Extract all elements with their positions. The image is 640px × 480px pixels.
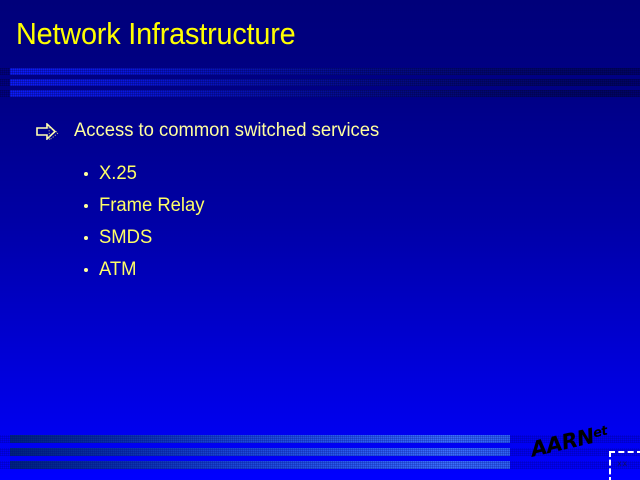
aarnet-logo-suffix: et: [592, 424, 609, 442]
bullet-level2-label: ATM: [99, 259, 137, 281]
page-number-text: xx: [617, 459, 628, 468]
top-decorative-bars: [0, 68, 640, 97]
bullet-level2: Frame Relay: [0, 190, 640, 222]
bullet-dot-icon: [84, 268, 88, 272]
sub-bullet-list: X.25 Frame Relay SMDS ATM: [0, 158, 640, 286]
bullet-dot-icon: [84, 236, 88, 240]
bullet-level2-label: X.25: [99, 163, 137, 185]
slide-title: Network Infrastructure: [16, 17, 295, 51]
decorative-bar: [0, 79, 640, 86]
bullet-level1-label: Access to common switched services: [74, 119, 379, 143]
aarnet-logo-main: AARN: [528, 424, 596, 462]
presentation-slide: Network Infrastructure Access to common …: [0, 0, 640, 480]
decorative-bar-dither: [0, 68, 640, 75]
aarnet-logo-text: AARNet: [528, 421, 609, 461]
bullet-dot-icon: [84, 204, 88, 208]
slide-body: Access to common switched services X.25 …: [0, 119, 640, 286]
bullet-level2: ATM: [0, 254, 640, 286]
bullet-level2-label: SMDS: [99, 227, 152, 249]
bullet-level1: Access to common switched services: [0, 119, 640, 145]
decorative-bar-dither: [0, 79, 640, 86]
decorative-bar: [0, 68, 640, 75]
decorative-bar: [0, 90, 640, 97]
bullet-level2: SMDS: [0, 222, 640, 254]
bullet-dot-icon: [84, 172, 88, 176]
bullet-level2: X.25: [0, 158, 640, 190]
bullet-level2-label: Frame Relay: [99, 195, 204, 217]
arrow-right-outline-icon: [36, 123, 60, 140]
page-number-placeholder: xx: [609, 451, 640, 480]
aarnet-logo: AARNet: [531, 432, 611, 466]
decorative-bar-dither: [0, 90, 640, 97]
